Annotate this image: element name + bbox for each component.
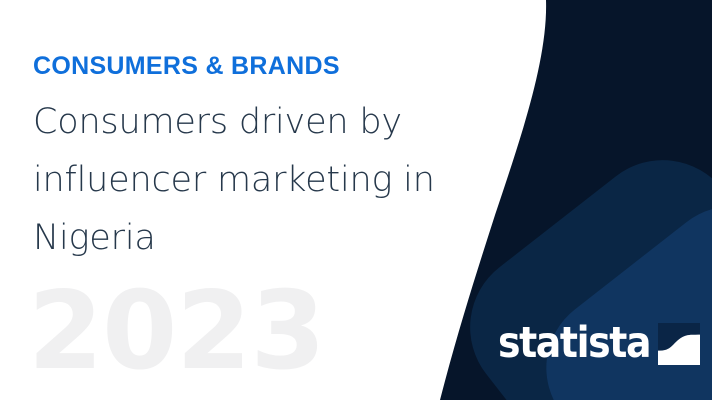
statista-wordmark: statista: [498, 322, 650, 365]
statista-logo: statista: [498, 322, 700, 365]
statista-s-curve-icon: [658, 323, 700, 365]
page-title: Consumers driven by influencer marketing…: [33, 93, 463, 267]
category-kicker: CONSUMERS & BRANDS: [33, 52, 463, 81]
year-watermark: 2023: [28, 278, 325, 386]
text-block: CONSUMERS & BRANDS Consumers driven by i…: [33, 52, 463, 267]
infographic-cover: 2023 CONSUMERS & BRANDS Consumers driven…: [0, 0, 712, 400]
